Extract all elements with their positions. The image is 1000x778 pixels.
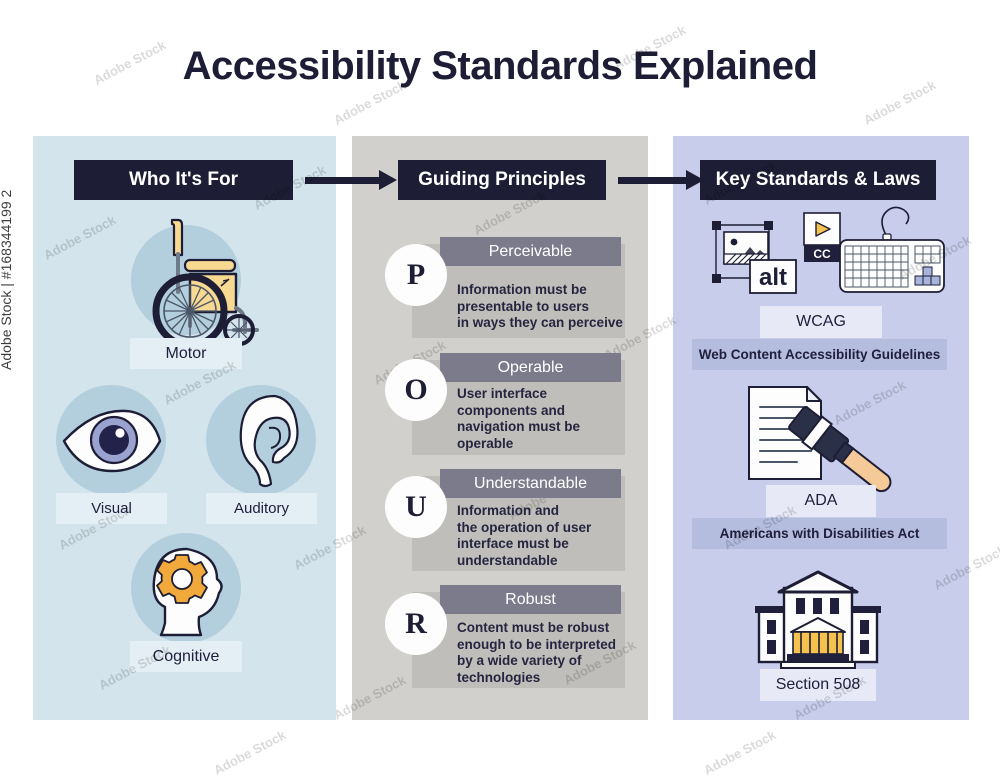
principle-letter-u: U [385,476,447,538]
principle-desc-line: navigation must be [457,419,632,436]
page-title: Accessibility Standards Explained [0,44,1000,89]
stock-watermark-id: Adobe Stock | #168344199 2 [0,190,14,370]
principle-desc-operable: User interface components and navigation… [457,386,632,452]
caption-visual: Visual [56,493,167,524]
header-who-its-for: Who It's For [74,160,293,200]
caption-motor: Motor [130,338,242,369]
wheelchair-icon [133,208,258,343]
principle-desc-perceivable: Information must be presentable to users… [457,282,632,332]
principle-desc-line: presentable to users [457,299,632,316]
principle-desc-line: in ways they can perceive [457,315,632,332]
principle-desc-robust: Content must be robust enough to be inte… [457,620,632,686]
arrow-middle-to-right-icon [618,170,704,190]
principle-title-operable: Operable [440,353,621,382]
principle-desc-line: components and [457,403,632,420]
principle-desc-line: by a wide variety of [457,653,632,670]
stock-watermark: Adobe Stock [701,727,778,778]
principle-desc-line: Content must be robust [457,620,632,637]
principle-desc-line: interface must be [457,536,632,553]
standard-abbr-wcag: WCAG [760,306,882,338]
stock-watermark: Adobe Stock [211,727,288,778]
principle-letter-p: P [385,244,447,306]
header-key-standards-laws: Key Standards & Laws [700,160,936,200]
infographic-canvas: Accessibility Standards Explained Who It… [0,0,1000,778]
ear-icon [228,392,304,490]
caption-cognitive: Cognitive [130,641,242,672]
alt-text-captions-keyboard-icon: alt CC [690,200,950,305]
eye-icon [60,408,164,474]
principle-letter-r: R [385,593,447,655]
principle-title-understandable: Understandable [440,469,621,498]
standard-fullname-wcag: Web Content Accessibility Guidelines [692,339,947,370]
principle-letter-o: O [385,359,447,421]
svg-text:alt: alt [759,264,787,291]
principle-desc-line: technologies [457,670,632,687]
principle-desc-line: operable [457,436,632,453]
principle-desc-understandable: Information and the operation of user in… [457,503,632,569]
standard-abbr-ada: ADA [766,485,876,517]
principle-desc-line: the operation of user [457,520,632,537]
principle-desc-line: User interface [457,386,632,403]
principle-title-perceivable: Perceivable [440,237,621,266]
head-gear-icon [145,545,235,637]
government-building-icon [753,570,883,670]
principle-title-robust: Robust [440,585,621,614]
principle-desc-line: understandable [457,553,632,570]
principle-desc-line: enough to be interpreted [457,637,632,654]
standard-abbr-section-508: Section 508 [760,669,876,701]
principle-desc-line: Information and [457,503,632,520]
principle-desc-line: Information must be [457,282,632,299]
svg-text:CC: CC [813,247,831,261]
header-guiding-principles: Guiding Principles [398,160,606,200]
arrow-left-to-middle-icon [305,170,397,190]
gavel-document-icon [745,385,925,485]
caption-auditory: Auditory [206,493,317,524]
standard-fullname-ada: Americans with Disabilities Act [692,518,947,549]
